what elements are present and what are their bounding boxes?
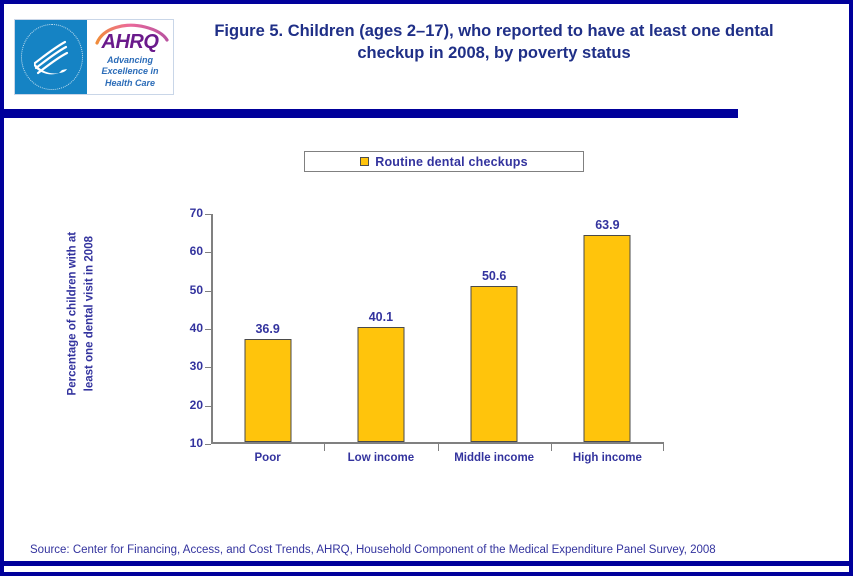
hhs-seal-icon xyxy=(15,20,87,94)
bar-value-label: 36.9 xyxy=(255,322,279,336)
x-axis-category-label: High income xyxy=(551,452,664,464)
bar-group: 40.1Low income xyxy=(324,214,437,442)
ahrq-tagline: Advancing Excellence in Health Care xyxy=(87,55,173,89)
footer-divider xyxy=(4,561,849,566)
figure-title: Figure 5. Children (ages 2–17), who repo… xyxy=(184,20,804,65)
plot-area: 10203040506070 36.9Poor40.1Low income50.… xyxy=(211,214,664,444)
x-axis-category-label: Low income xyxy=(324,452,437,464)
bar[interactable]: 63.9 xyxy=(584,235,631,442)
x-tick-mark xyxy=(438,444,439,451)
chart-legend: Routine dental checkups xyxy=(304,151,584,172)
y-tick-label: 20 xyxy=(190,398,203,412)
y-axis-title-line-1: Percentage of children with at xyxy=(64,189,81,439)
bar[interactable]: 36.9 xyxy=(244,339,291,442)
source-note: Source: Center for Financing, Access, an… xyxy=(30,544,716,556)
header: AHRQ Advancing Excellence in Health Care… xyxy=(4,4,849,107)
ahrq-wordmark-block: AHRQ Advancing Excellence in Health Care xyxy=(87,20,173,94)
ahrq-tagline-line-2: Excellence in xyxy=(87,66,173,77)
x-tick-mark xyxy=(324,444,325,451)
y-axis-title-line-2: least one dental visit in 2008 xyxy=(81,189,98,439)
ahrq-tagline-line-3: Health Care xyxy=(87,78,173,89)
x-axis-category-label: Middle income xyxy=(438,452,551,464)
chart: Routine dental checkups Percentage of ch… xyxy=(4,122,849,532)
y-tick-label: 30 xyxy=(190,359,203,373)
ahrq-logo: AHRQ Advancing Excellence in Health Care xyxy=(14,19,174,95)
bar-group: 63.9High income xyxy=(551,214,664,442)
bar-value-label: 63.9 xyxy=(595,218,619,232)
figure-page: AHRQ Advancing Excellence in Health Care… xyxy=(0,0,853,576)
bar-value-label: 40.1 xyxy=(369,310,393,324)
bar-value-label: 50.6 xyxy=(482,269,506,283)
bar-group: 36.9Poor xyxy=(211,214,324,442)
legend-swatch-routine-dental-checkups xyxy=(360,157,369,166)
x-tick-mark xyxy=(551,444,552,451)
x-axis-category-label: Poor xyxy=(211,452,324,464)
x-tick-mark-end xyxy=(663,444,664,451)
y-tick-label: 50 xyxy=(190,283,203,297)
ahrq-wordmark: AHRQ xyxy=(87,32,173,52)
y-tick-label: 60 xyxy=(190,244,203,258)
y-tick-label: 10 xyxy=(190,436,203,450)
hhs-eagle-icon xyxy=(29,32,73,82)
y-axis-title: Percentage of children with at least one… xyxy=(64,189,97,439)
ahrq-tagline-line-1: Advancing xyxy=(87,55,173,66)
bar[interactable]: 40.1 xyxy=(357,327,404,442)
y-tick-label: 70 xyxy=(190,206,203,220)
legend-label-routine-dental-checkups: Routine dental checkups xyxy=(375,155,528,169)
header-divider xyxy=(4,109,738,118)
y-tick-mark xyxy=(205,444,211,445)
bar[interactable]: 50.6 xyxy=(471,286,518,442)
y-tick-label: 40 xyxy=(190,321,203,335)
bar-group: 50.6Middle income xyxy=(438,214,551,442)
